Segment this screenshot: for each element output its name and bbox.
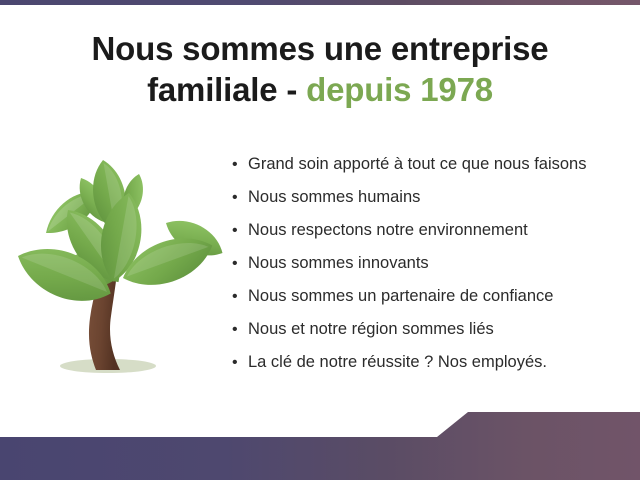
bullet-marker-icon: • bbox=[232, 346, 238, 379]
headline-line-2-plain: familiale - bbox=[147, 71, 297, 108]
list-item: • La clé de notre réussite ? Nos employé… bbox=[231, 346, 631, 379]
headline-line-2-accent: depuis 1978 bbox=[306, 71, 493, 108]
headline-line-1: Nous sommes une entreprise bbox=[92, 30, 549, 67]
list-item-label: La clé de notre réussite ? Nos employés. bbox=[248, 353, 547, 371]
bullet-marker-icon: • bbox=[232, 280, 238, 313]
slide-root: Nous sommes une entreprise familiale -de… bbox=[0, 0, 640, 480]
list-item-label: Nous sommes humains bbox=[248, 188, 420, 206]
list-item: • Nous respectons notre environnement bbox=[231, 214, 631, 247]
list-item: • Grand soin apporté à tout ce que nous … bbox=[231, 148, 631, 181]
list-item: • Nous sommes humains bbox=[231, 181, 631, 214]
top-accent-strip bbox=[0, 0, 640, 5]
bullet-marker-icon: • bbox=[232, 313, 238, 346]
list-item: • Nous et notre région sommes liés bbox=[231, 313, 631, 346]
list-item-label: Nous sommes un partenaire de confiance bbox=[248, 287, 553, 305]
footer-shape bbox=[0, 412, 640, 480]
list-item-label: Nous sommes innovants bbox=[248, 254, 429, 272]
list-item: • Nous sommes innovants bbox=[231, 247, 631, 280]
list-item-label: Nous et notre région sommes liés bbox=[248, 320, 494, 338]
bullet-marker-icon: • bbox=[232, 247, 238, 280]
tree-leaves bbox=[10, 157, 226, 314]
list-item-label: Grand soin apporté à tout ce que nous fa… bbox=[248, 155, 586, 173]
bullet-marker-icon: • bbox=[232, 181, 238, 214]
bullet-marker-icon: • bbox=[232, 214, 238, 247]
bullet-marker-icon: • bbox=[232, 148, 238, 181]
tree-illustration bbox=[8, 138, 226, 390]
list-item: • Nous sommes un partenaire de confiance bbox=[231, 280, 631, 313]
value-list: • Grand soin apporté à tout ce que nous … bbox=[231, 148, 631, 379]
footer-bar: tabor-automobiles.fr bbox=[0, 400, 640, 480]
list-item-label: Nous respectons notre environnement bbox=[248, 221, 528, 239]
page-title: Nous sommes une entreprise familiale -de… bbox=[30, 28, 610, 110]
